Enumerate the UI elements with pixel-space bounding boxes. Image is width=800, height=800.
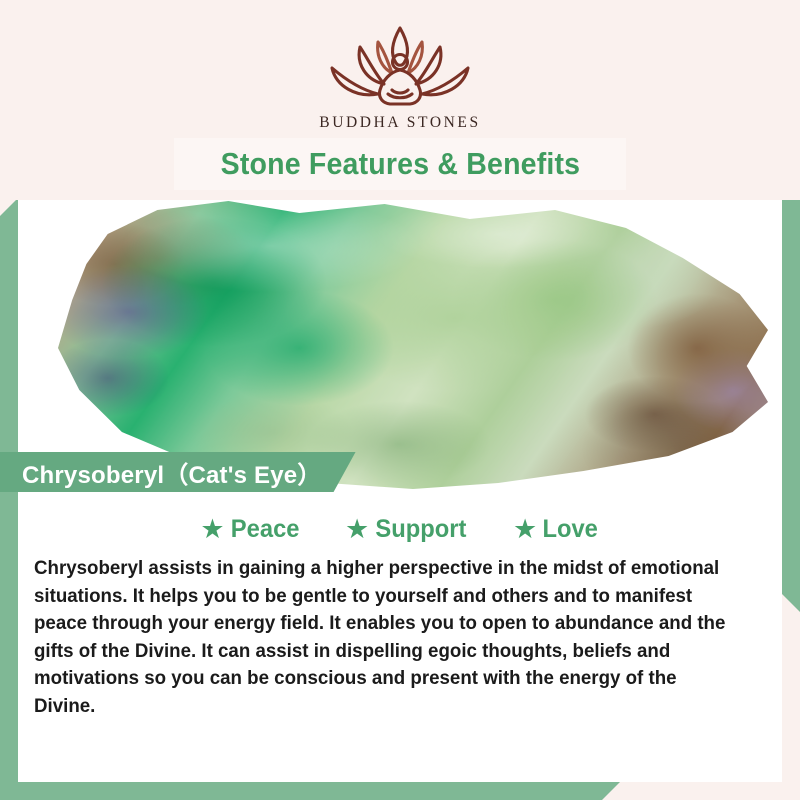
frame-accent-bottom [0,782,620,800]
feature-item-support: ★ Support [345,515,469,544]
lotus-meditation-icon [316,20,484,112]
star-icon: ★ [513,516,537,543]
stone-name-label: Chrysoberyl（Cat's Eye） [22,455,322,490]
page-title: Stone Features & Benefits [220,146,580,182]
poster-header: BUDDHA STONES Stone Features & Benefits [0,0,800,200]
stone-info-panel: ★ Peace ★ Support ★ Love Chrysoberyl ass… [18,505,782,782]
feature-label: Love [543,515,598,544]
stone-benefits-poster: BUDDHA STONES Stone Features & Benefits … [0,0,800,800]
feature-item-peace: ★ Peace [200,515,301,544]
stone-description: Chrysoberyl assists in gaining a higher … [34,555,737,720]
feature-label: Support [376,515,467,544]
frame-accent-left [0,198,18,800]
star-icon: ★ [200,516,224,543]
stone-name-band: Chrysoberyl（Cat's Eye） [0,452,356,492]
stone-sheen-overlay [58,200,768,492]
feature-item-love: ★ Love [513,515,600,544]
star-icon: ★ [345,516,369,543]
stone-specimen-image [58,200,768,492]
brand-logo: BUDDHA STONES [0,20,800,132]
feature-label: Peace [230,515,299,544]
brand-name: BUDDHA STONES [0,114,800,132]
title-banner: Stone Features & Benefits [174,138,626,190]
feature-list: ★ Peace ★ Support ★ Love [18,505,782,544]
